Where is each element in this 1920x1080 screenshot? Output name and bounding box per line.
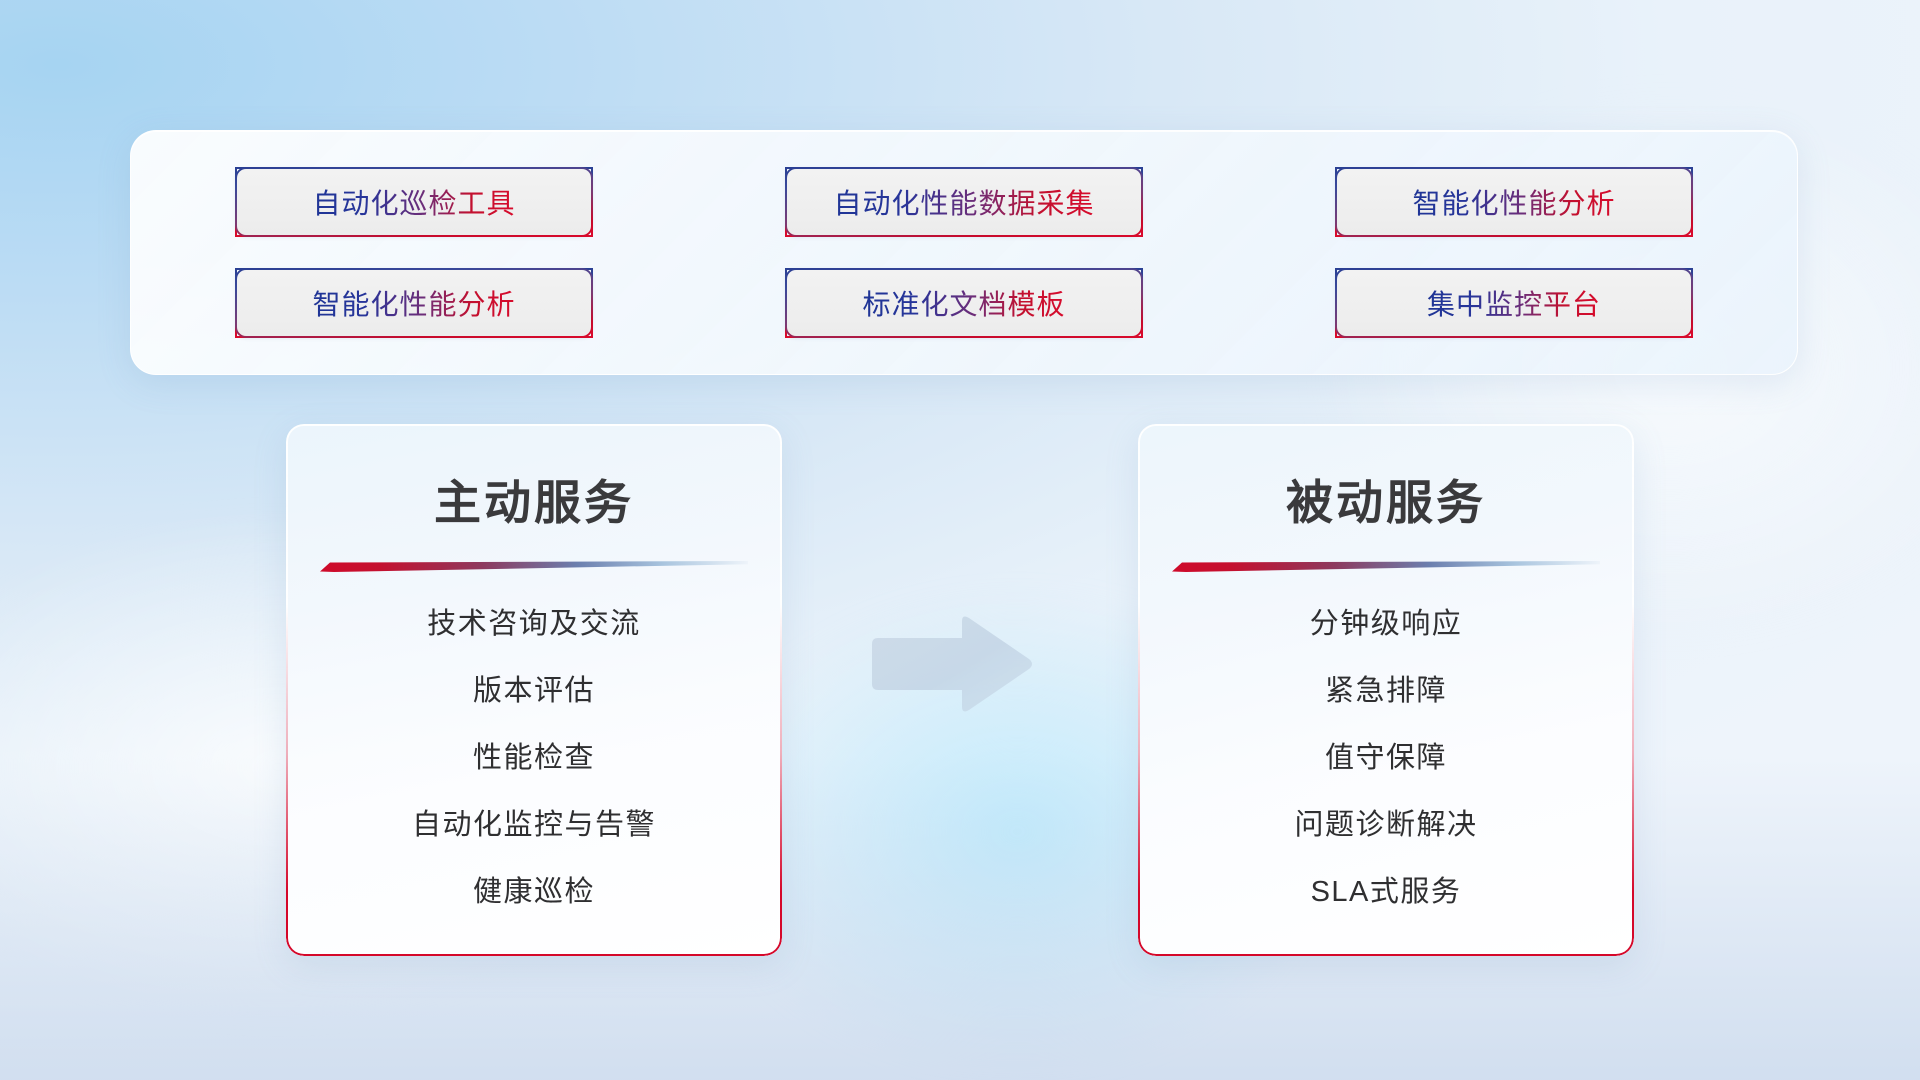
- capability-chip-centralized-monitoring-platform[interactable]: 集中监控平台: [1335, 268, 1693, 338]
- service-card-active: 主动服务 技术咨询及交流 版本评估 性能检查 自动化监控与告警 健康巡检: [286, 424, 782, 956]
- capability-chip-label: 智能化性能分析: [1412, 182, 1615, 222]
- card-title: 主动服务: [286, 464, 782, 533]
- capability-chip-label: 自动化巡检工具: [312, 182, 515, 222]
- service-list-item: 性能检查: [473, 734, 595, 776]
- service-list-item: 版本评估: [473, 667, 595, 709]
- capability-chip-label: 自动化性能数据采集: [833, 182, 1094, 222]
- capability-panel: 自动化巡检工具 自动化性能数据采集 智能化性能分析 智能化性能分析 标准化文档模…: [130, 130, 1798, 375]
- capability-chip-intelligent-performance-analysis-a[interactable]: 智能化性能分析: [1335, 167, 1693, 237]
- capability-chip-automated-inspection-tool[interactable]: 自动化巡检工具: [235, 167, 593, 237]
- service-list-item: 分钟级响应: [1310, 600, 1463, 642]
- capability-chip-automated-performance-data-collection[interactable]: 自动化性能数据采集: [785, 167, 1143, 237]
- service-list-active: 技术咨询及交流 版本评估 性能检查 自动化监控与告警 健康巡检: [286, 600, 782, 910]
- service-card-passive: 被动服务 分钟级响应 紧急排障 值守保障 问题诊断解决 SLA式服务: [1138, 424, 1634, 956]
- card-divider-accent: [320, 559, 748, 570]
- arrow-right-icon: [866, 614, 1034, 714]
- capability-chip-intelligent-performance-analysis-b[interactable]: 智能化性能分析: [235, 268, 593, 338]
- service-list-passive: 分钟级响应 紧急排障 值守保障 问题诊断解决 SLA式服务: [1138, 600, 1634, 910]
- service-list-item: 紧急排障: [1325, 667, 1447, 709]
- capability-chip-label: 标准化文档模板: [862, 283, 1065, 323]
- card-title: 被动服务: [1138, 464, 1634, 533]
- service-list-item: SLA式服务: [1311, 868, 1462, 910]
- service-list-item: 健康巡检: [473, 868, 595, 910]
- service-list-item: 技术咨询及交流: [427, 600, 641, 642]
- capability-chip-standardized-document-template[interactable]: 标准化文档模板: [785, 268, 1143, 338]
- card-divider-accent: [1172, 559, 1600, 570]
- capability-chip-label: 集中监控平台: [1427, 283, 1601, 323]
- service-list-item: 自动化监控与告警: [412, 801, 656, 843]
- service-list-item: 值守保障: [1325, 734, 1447, 776]
- capability-chip-label: 智能化性能分析: [312, 283, 515, 323]
- service-list-item: 问题诊断解决: [1294, 801, 1477, 843]
